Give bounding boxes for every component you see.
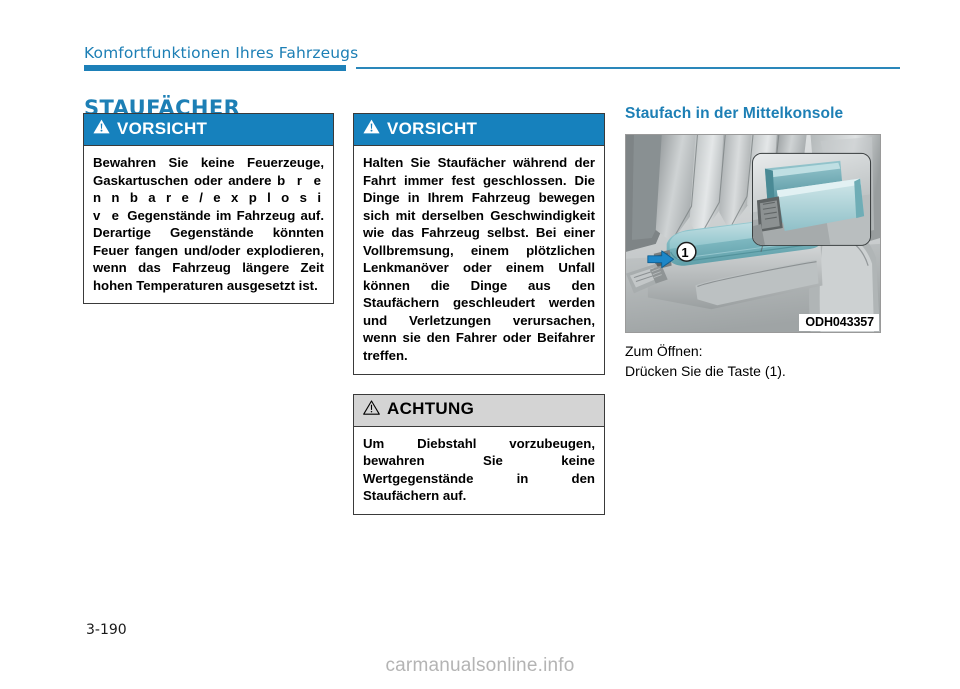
callout-number-1: 1 bbox=[675, 245, 695, 260]
column-middle: VORSICHT Halten Sie Staufächer während d… bbox=[353, 113, 605, 534]
notice-header-label: ACHTUNG bbox=[387, 400, 474, 419]
notice-header: VORSICHT bbox=[354, 114, 604, 146]
figure-id-label: ODH043357 bbox=[799, 314, 879, 331]
notice-header-label: VORSICHT bbox=[387, 120, 477, 139]
notice-body: Bewahren Sie keine Feuerzeuge, Gaskartus… bbox=[84, 146, 333, 303]
figure-caption-line-1: Zum Öffnen: bbox=[625, 342, 885, 362]
figure-caption: Zum Öffnen: Drücken Sie die Taste (1). bbox=[625, 342, 885, 382]
console-illustration-svg bbox=[626, 135, 880, 332]
header-rule-thin bbox=[356, 67, 900, 69]
notice-achtung-diebstahl: ACHTUNG Um Diebstahl vorzubeugen, bewahr… bbox=[353, 394, 605, 515]
notice-header: ACHTUNG bbox=[354, 395, 604, 427]
notice-vorsicht-staufaecher-geschlossen: VORSICHT Halten Sie Staufächer während d… bbox=[353, 113, 605, 375]
page-number: 3-190 bbox=[86, 622, 127, 638]
warning-triangle-outline-icon bbox=[363, 400, 380, 420]
notice-body: Um Diebstahl vorzubeugen, bewahren Sie k… bbox=[354, 427, 604, 514]
column-left: VORSICHT Bewahren Sie keine Feuerzeuge, … bbox=[83, 113, 334, 323]
running-header-title: Komfortfunktionen Ihres Fahrzeugs bbox=[84, 44, 358, 62]
watermark: carmanualsonline.info bbox=[0, 655, 960, 677]
figure-caption-line-2: Drücken Sie die Taste (1). bbox=[625, 362, 885, 382]
center-console-storage-illustration: 1 ODH043357 bbox=[625, 134, 881, 333]
notice-body: Halten Sie Staufächer während der Fahrt … bbox=[354, 146, 604, 374]
notice-vorsicht-feuerzeuge: VORSICHT Bewahren Sie keine Feuerzeuge, … bbox=[83, 113, 334, 304]
subsection-heading: Staufach in der Mittelkonsole bbox=[625, 105, 885, 123]
warning-triangle-filled-icon bbox=[363, 119, 380, 139]
notice-header: VORSICHT bbox=[84, 114, 333, 146]
header-rule-thick bbox=[84, 65, 346, 71]
page-header: Komfortfunktionen Ihres Fahrzeugs bbox=[84, 44, 900, 70]
warning-triangle-filled-icon bbox=[93, 119, 110, 139]
notice-header-label: VORSICHT bbox=[117, 120, 207, 139]
column-right: Staufach in der Mittelkonsole bbox=[625, 105, 885, 382]
